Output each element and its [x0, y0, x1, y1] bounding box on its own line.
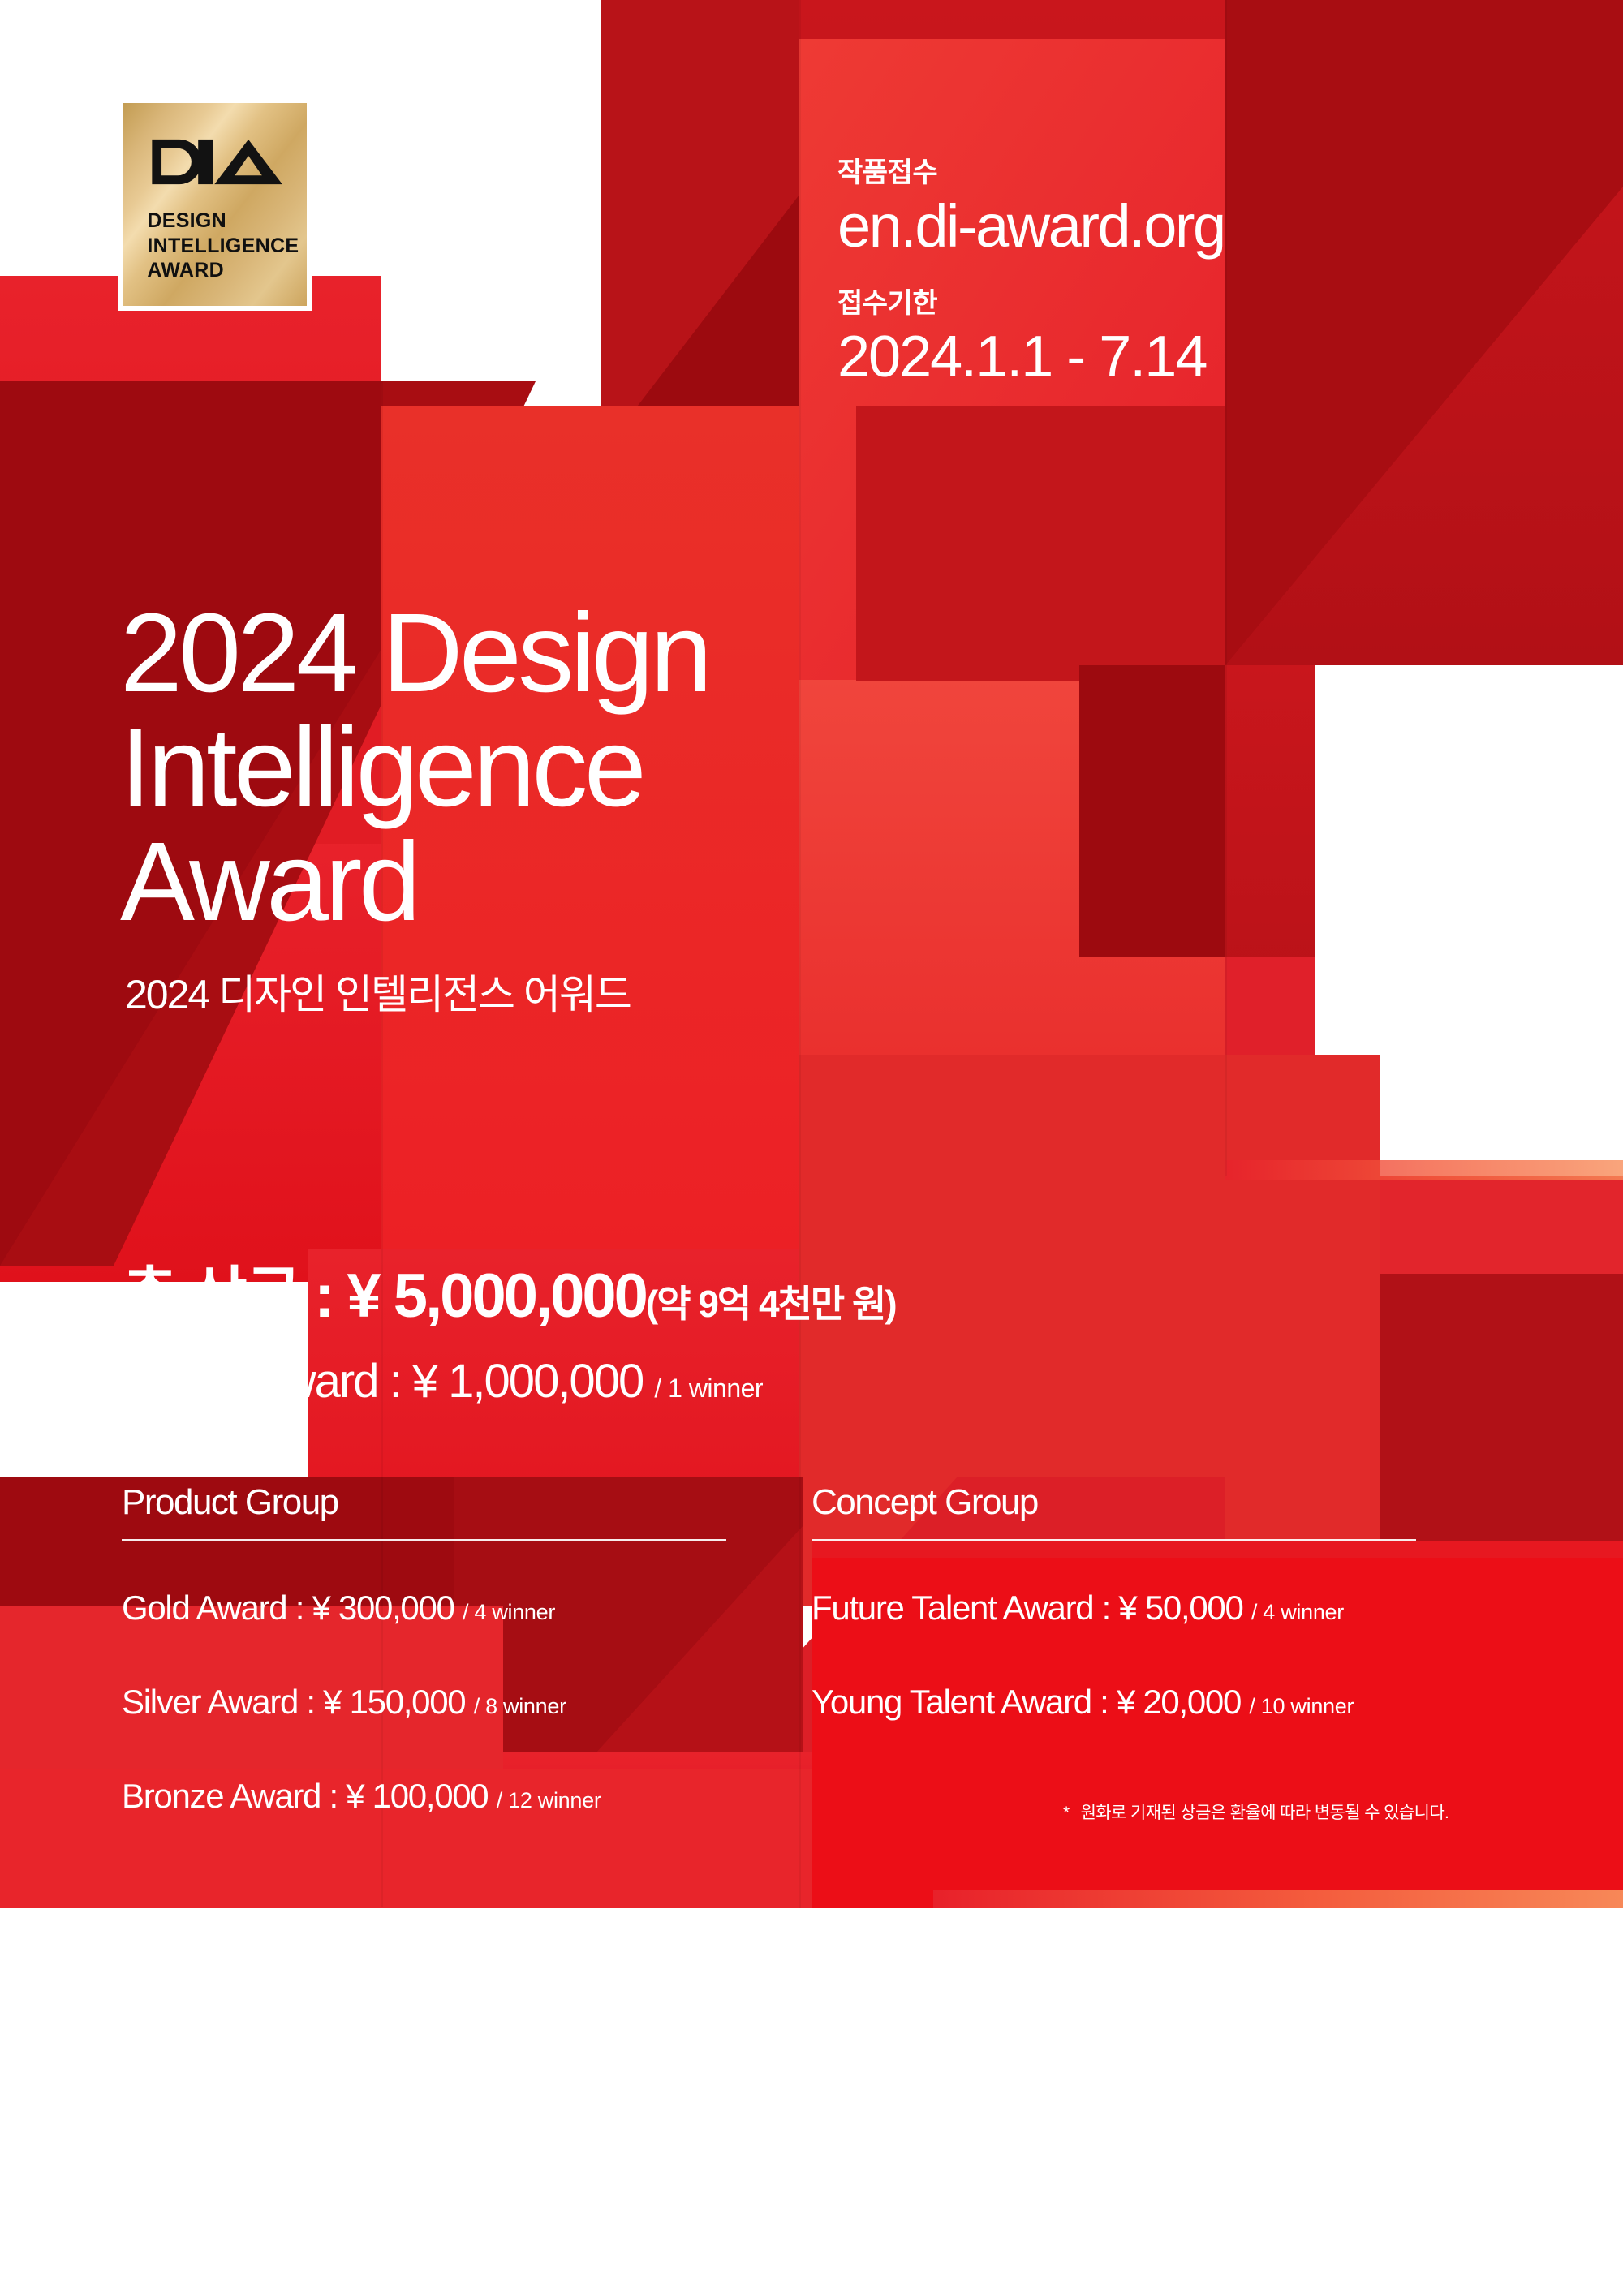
poster-root: DESIGN INTELLIGENCE AWARD 작품접수 en.di-awa…: [0, 0, 1623, 2296]
submission-url[interactable]: en.di-award.org: [837, 196, 1535, 256]
page-title: 2024 Design Intelligence Award 2024 디자인 …: [120, 596, 708, 1017]
group-concept-rule: [811, 1539, 1416, 1541]
total-prize-label: 총 상금 : ¥ 5,000,000: [122, 1262, 646, 1331]
logo-line-3: AWARD: [147, 258, 297, 283]
grand-award-row: Grand Award : ¥ 1,000,000 / 1 winner: [122, 1358, 896, 1405]
footnote-star: *: [1063, 1804, 1070, 1822]
title-korean: 2024 디자인 인텔리전스 어워드: [125, 973, 708, 1017]
award-label-gold: Gold Award : ¥ 300,000: [122, 1589, 454, 1627]
group-concept-heading: Concept Group: [811, 1485, 1416, 1520]
award-label-future-talent: Future Talent Award : ¥ 50,000: [811, 1589, 1243, 1627]
award-row-future-talent: Future Talent Award : ¥ 50,000 / 4 winne…: [811, 1591, 1416, 1625]
footnote-text: 원화로 기재된 상금은 환율에 따라 변동될 수 있습니다.: [1081, 1804, 1449, 1822]
footer: Supporter : The People's Government of Z…: [0, 1908, 1623, 2296]
award-winners-bronze: / 12 winner: [497, 1788, 601, 1812]
grand-award-winners: / 1 winner: [654, 1374, 763, 1403]
award-groups: Product Group Gold Award : ¥ 300,000 / 4…: [122, 1485, 1501, 1813]
title-line-3: Award: [120, 825, 708, 939]
deadline-label: 접수기한: [837, 289, 1535, 319]
award-row-gold: Gold Award : ¥ 300,000 / 4 winner: [122, 1591, 726, 1625]
award-label-bronze: Bronze Award : ¥ 100,000: [122, 1777, 488, 1815]
logo-line-2: INTELLIGENCE: [147, 234, 297, 259]
dia-logo: DESIGN INTELLIGENCE AWARD: [118, 98, 312, 311]
title-line-1: 2024 Design: [120, 596, 708, 711]
group-product-heading: Product Group: [122, 1485, 726, 1520]
award-row-silver: Silver Award : ¥ 150,000 / 8 winner: [122, 1685, 726, 1719]
prize-summary: 총 상금 : ¥ 5,000,000(약 9억 4천만 원) Grand Awa…: [122, 1266, 896, 1405]
group-product-rule: [122, 1539, 726, 1541]
total-prize-row: 총 상금 : ¥ 5,000,000(약 9억 4천만 원): [122, 1266, 896, 1327]
dia-logo-wordmark: DESIGN INTELLIGENCE AWARD: [147, 209, 297, 283]
award-winners-silver: / 8 winner: [474, 1694, 566, 1718]
total-prize-approx: (약 9억 4천만 원): [646, 1283, 896, 1325]
award-winners-future-talent: / 4 winner: [1251, 1600, 1344, 1624]
currency-footnote: *원화로 기재된 상금은 환율에 따라 변동될 수 있습니다.: [1063, 1799, 1449, 1824]
title-line-2: Intelligence: [120, 711, 708, 825]
award-label-silver: Silver Award : ¥ 150,000: [122, 1683, 465, 1721]
award-row-bronze: Bronze Award : ¥ 100,000 / 12 winner: [122, 1779, 726, 1813]
submission-info: 작품접수 en.di-award.org 접수기한 2024.1.1 - 7.1…: [837, 158, 1535, 386]
award-row-young-talent: Young Talent Award : ¥ 20,000 / 10 winne…: [811, 1685, 1416, 1719]
deadline-value: 2024.1.1 - 7.14: [837, 328, 1535, 386]
award-label-young-talent: Young Talent Award : ¥ 20,000: [811, 1683, 1241, 1721]
group-product: Product Group Gold Award : ¥ 300,000 / 4…: [122, 1485, 726, 1813]
award-winners-young-talent: / 10 winner: [1249, 1694, 1354, 1718]
submission-label: 작품접수: [837, 158, 1535, 188]
award-winners-gold: / 4 winner: [463, 1600, 555, 1624]
dia-logo-plate: DESIGN INTELLIGENCE AWARD: [123, 103, 307, 306]
group-concept: Concept Group Future Talent Award : ¥ 50…: [811, 1485, 1416, 1813]
dia-monogram-icon: [149, 127, 285, 196]
grand-award-label: Grand Award : ¥ 1,000,000: [122, 1355, 643, 1408]
logo-line-1: DESIGN: [147, 209, 297, 234]
